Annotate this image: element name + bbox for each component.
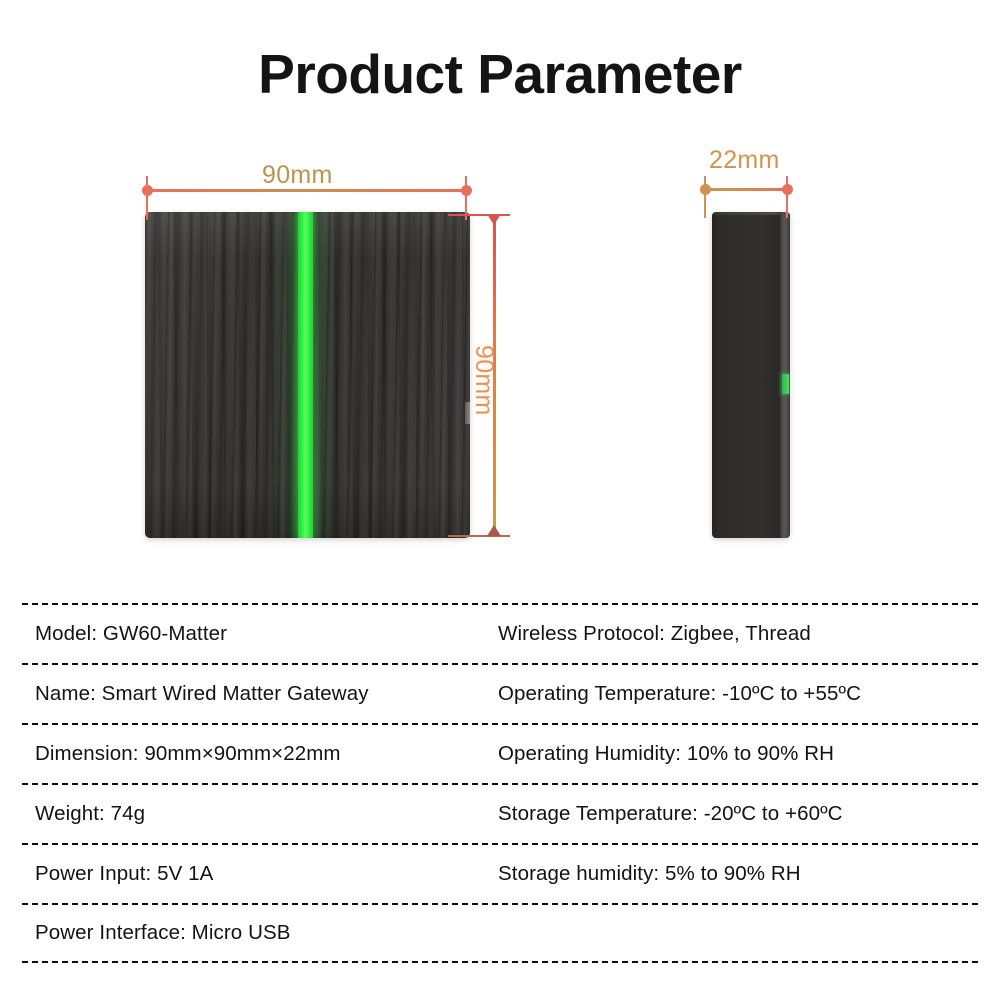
spec-storage-humidity: Storage humidity: 5% to 90% RH (488, 864, 978, 885)
spec-model: Model: GW60-Matter (22, 624, 488, 645)
spec-operating-humidity: Operating Humidity: 10% to 90% RH (488, 744, 978, 765)
side-led-indicator (782, 374, 789, 394)
led-strip-indicator (298, 212, 313, 538)
width-marker-right (461, 185, 472, 196)
table-row: Model: GW60-Matter Wireless Protocol: Zi… (22, 603, 978, 663)
matter-logo-icon (145, 312, 148, 358)
table-row: Power Interface: Micro USB (22, 903, 978, 963)
depth-dimension-line (704, 188, 786, 191)
depth-marker-left (700, 184, 711, 195)
product-parameter-page: Product Parameter (0, 0, 1000, 1000)
matter-branding: matter (145, 312, 205, 358)
side-top-edge (712, 212, 790, 215)
height-dimension-label: 90mm (469, 345, 498, 416)
table-row: Name: Smart Wired Matter Gateway Operati… (22, 663, 978, 723)
spec-storage-temperature: Storage Temperature: -20ºC to +60ºC (488, 804, 978, 825)
width-marker-left (142, 185, 153, 196)
product-side-view (712, 212, 790, 538)
height-arrow-bottom (487, 525, 501, 536)
specification-table: Model: GW60-Matter Wireless Protocol: Zi… (22, 603, 978, 963)
spec-power-input: Power Input: 5V 1A (22, 864, 488, 885)
spec-power-interface: Power Interface: Micro USB (22, 923, 488, 944)
depth-extension-line-left (704, 176, 706, 218)
product-front-view: matter (145, 212, 470, 538)
table-row: Power Input: 5V 1A Storage humidity: 5% … (22, 843, 978, 903)
depth-dimension-label: 22mm (709, 146, 780, 175)
table-row: Weight: 74g Storage Temperature: -20ºC t… (22, 783, 978, 843)
table-row: Dimension: 90mm×90mm×22mm Operating Humi… (22, 723, 978, 783)
spec-name: Name: Smart Wired Matter Gateway (22, 684, 488, 705)
spec-wireless-protocol: Wireless Protocol: Zigbee, Thread (488, 624, 978, 645)
height-arrow-top (487, 214, 501, 225)
width-extension-line-left (146, 176, 148, 220)
spec-dimension: Dimension: 90mm×90mm×22mm (22, 744, 488, 765)
depth-marker-right (782, 184, 793, 195)
product-illustration: matter 90mm 90mm 22mm (0, 0, 1000, 580)
width-dimension-label: 90mm (262, 161, 333, 190)
depth-extension-line-right (786, 176, 788, 218)
spec-weight: Weight: 74g (22, 804, 488, 825)
spec-operating-temperature: Operating Temperature: -10ºC to +55ºC (488, 684, 978, 705)
